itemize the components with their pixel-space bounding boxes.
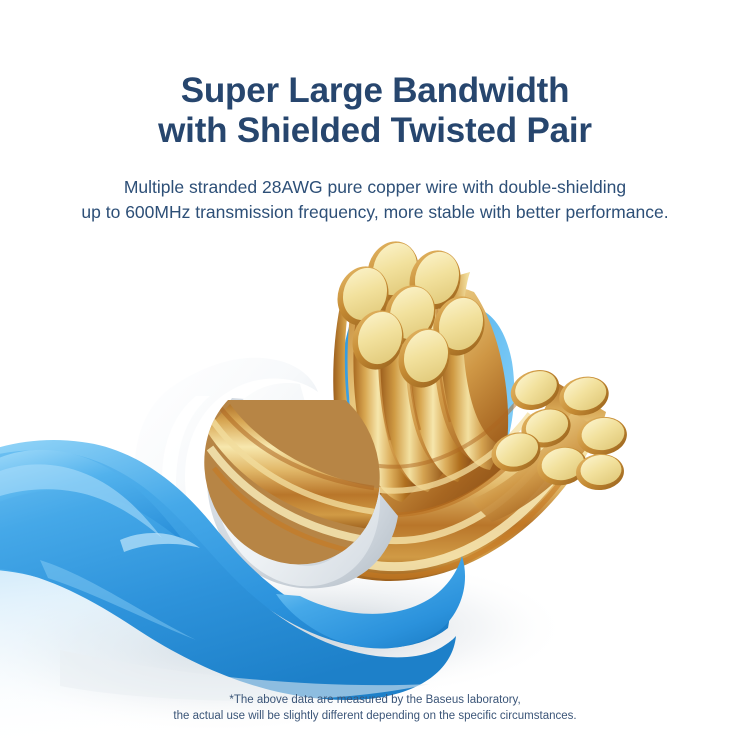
ethernet-cable-cutaway-illustration [0, 0, 750, 750]
product-feature-slide: Super Large Bandwidth with Shielded Twis… [0, 0, 750, 750]
